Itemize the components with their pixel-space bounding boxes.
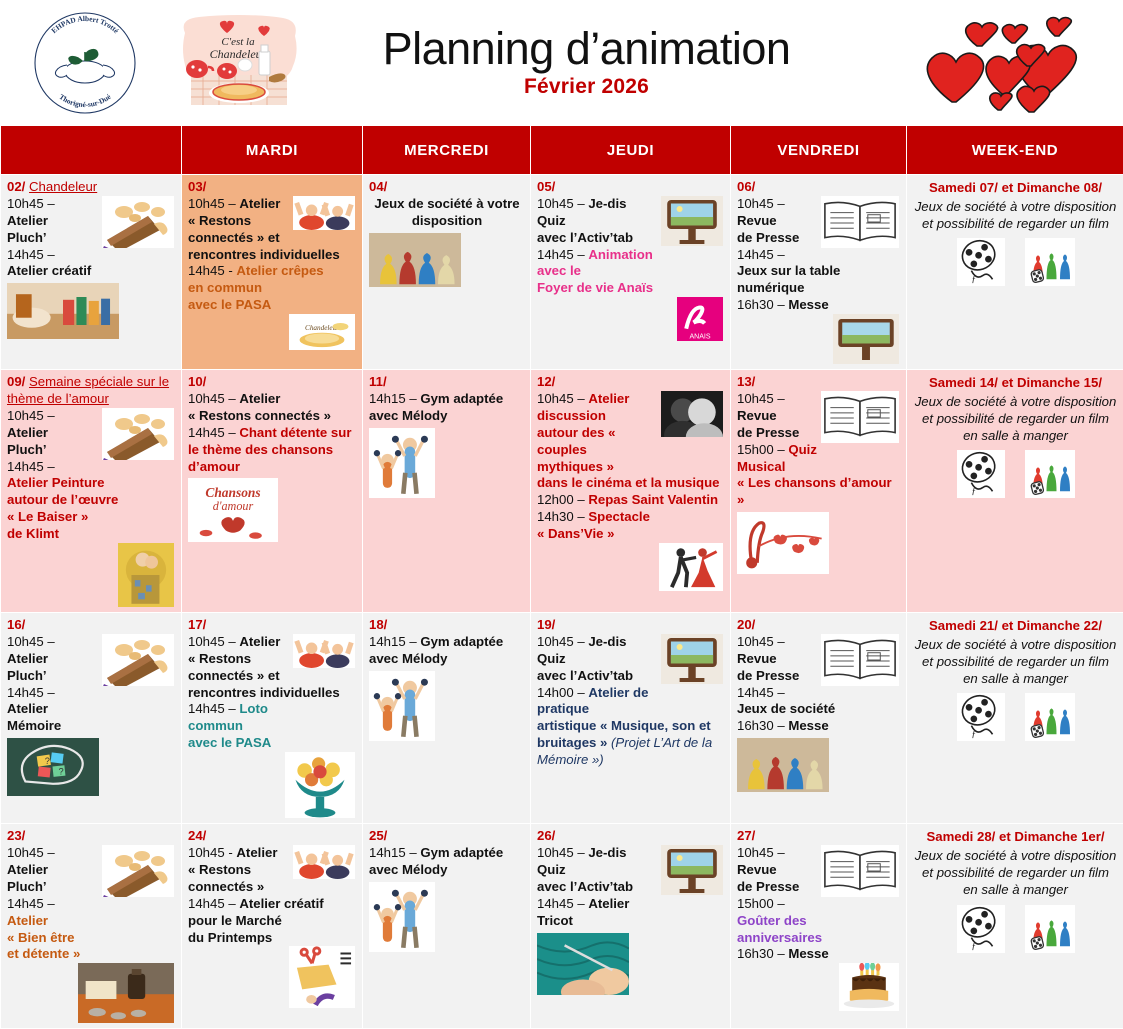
day-number: 05/: [537, 179, 555, 194]
day-number: 16/: [7, 617, 25, 632]
svg-text:Chansons: Chansons: [205, 486, 260, 501]
activity-time: 10h45 –: [188, 196, 239, 211]
column-header-weekend: WEEK-END: [907, 126, 1123, 175]
creative-workshop-image: [7, 283, 119, 339]
day-cell: 18/ 14h15 – Gym adaptéeavec Mélody: [363, 613, 531, 824]
day-header: 06/: [737, 179, 901, 196]
activity-time: 10h45 –: [537, 845, 588, 860]
day-header: 18/: [369, 617, 525, 634]
svg-text:Thorigné-sur-Dué: Thorigné-sur-Dué: [57, 91, 113, 108]
illustration-restons-connectes-icon: [293, 634, 355, 668]
chandeleur-badge-image: Chandeleur: [289, 314, 355, 350]
day-header: 27/: [737, 828, 901, 845]
activity-line: artistique « Musique, son et: [537, 718, 725, 735]
illustration-newspaper-icon: [821, 196, 899, 248]
activity-time: 14h45 –: [537, 247, 588, 262]
anais-logo-image: ANAIS: [677, 297, 723, 341]
activity-line: 14h45 – Atelier: [7, 896, 176, 930]
day-number: 03/: [188, 179, 206, 194]
weekend-cell: Samedi 14/ et Dimanche 15/ Jeux de socié…: [907, 370, 1123, 613]
activity-planning-table: MARDI MERCREDI JEUDI VENDREDI WEEK-END 0…: [0, 125, 1123, 1029]
activity-line: du Printemps: [188, 930, 357, 947]
illustration-board-game-pieces-icon: [1025, 450, 1075, 498]
day-cell: 27/ 10h45 – Revuede Presse15h00 – Goûter…: [731, 824, 907, 1029]
activity-line: Foyer de vie Anaïs: [537, 280, 725, 297]
day-cell: 24/ 10h45 - Atelier« Restons connectés »…: [182, 824, 363, 1029]
activity-line: d’amour: [188, 459, 357, 476]
activity-time: 10h45 –: [537, 634, 588, 649]
day-number: 24/: [188, 828, 206, 843]
illustration-adapted-gym-image: [369, 671, 525, 741]
day-theme-title: Chandeleur: [29, 179, 97, 194]
newspaper-icon: [821, 391, 899, 443]
activity-time: 14h45 –: [737, 685, 785, 700]
activity-time: 14h45 –: [188, 701, 239, 716]
pluch-workshop-image: [102, 408, 174, 460]
table-body: 02/ Chandeleur 10h45 – AtelierPluch’14h4…: [1, 175, 1123, 1029]
restons-connectes-icon: [293, 845, 355, 879]
illustration-anais-logo-image: ANAIS: [677, 297, 723, 341]
activity-line: 14h45 – Atelier créatif: [7, 247, 176, 281]
activity-line: bruitages » (Projet L’Art de la: [537, 735, 725, 752]
day-header: 17/: [188, 617, 357, 634]
activity-time: 14h30 –: [537, 509, 588, 524]
weekend-icons: ƒ: [913, 693, 1118, 741]
board-game-pawns-image: [369, 233, 461, 287]
activity-time: 16h30 –: [737, 718, 788, 733]
activity-line: 14h45 – Atelier Peinture: [7, 459, 176, 493]
table-header-row: MARDI MERCREDI JEUDI VENDREDI WEEK-END: [1, 126, 1123, 175]
day-number: 19/: [537, 617, 555, 632]
activity-line: 14h00 – Atelier de pratique: [537, 685, 725, 719]
activity-time: 14h15 –: [369, 391, 420, 406]
activity-time: 16h30 –: [737, 946, 788, 961]
day-cell: 23/ 10h45 – Atelier Pluch’14h45 – Atelie…: [1, 824, 182, 1029]
chandeleur-badge: C'est la Chandeleur: [170, 10, 305, 115]
day-header: 19/: [537, 617, 725, 634]
digital-table-image: [833, 314, 899, 364]
activity-line: 14h15 – Gym adaptée: [369, 845, 525, 862]
board-game-pieces-icon: [1025, 238, 1075, 286]
restons-connectes-icon: [293, 634, 355, 668]
illustration-digital-table-image: [833, 314, 899, 364]
day-header: 11/: [369, 374, 525, 391]
svg-text:EHPAD Albert Trotté: EHPAD Albert Trotté: [49, 13, 121, 35]
activity-line: 14h45 – Jeux de société: [737, 685, 901, 719]
activity-line: Mémoire: [7, 718, 176, 735]
weekend-description: Jeux de société à votre disposition et p…: [913, 198, 1118, 232]
page-subtitle: Février 2026: [305, 75, 868, 99]
activity-time: 10h45 –: [7, 634, 55, 649]
activity-time: 14h00 –: [537, 685, 588, 700]
newspaper-icon: [821, 845, 899, 897]
activity-line: pour le Marché: [188, 913, 357, 930]
activity-line: 15h00 – Goûter des: [737, 896, 901, 930]
activity-line: dans le cinéma et la musique: [537, 475, 725, 492]
day-header: 05/: [537, 179, 725, 196]
illustration-klimt-kiss-painting-image: [118, 543, 174, 607]
day-number: 20/: [737, 617, 755, 632]
activity-line: avec le PASA: [188, 735, 357, 752]
activity-line: rencontres individuelles: [188, 685, 357, 702]
activity-line: en commun: [188, 280, 357, 297]
day-header: 04/: [369, 179, 525, 196]
activity-line: avec le PASA: [188, 297, 357, 314]
activity-line: 15h00 – Quiz Musical: [737, 442, 901, 476]
activity-line: mythiques »: [537, 459, 725, 476]
title-block: Planning d’animation Février 2026: [305, 26, 908, 98]
wellness-candles-image: [78, 963, 174, 1023]
weekend-description: Jeux de société à votre disposition et p…: [913, 636, 1118, 687]
svg-text:?: ?: [45, 756, 50, 766]
weekend-icons: ƒ: [913, 238, 1118, 286]
activity-line: avec Mélody: [369, 651, 525, 668]
day-cell: 26/ 10h45 – Je-dis Quizavec l’Activ’tab1…: [531, 824, 731, 1029]
mythic-couple-photo-image: [661, 391, 723, 437]
day-header: 09/ Semaine spéciale sur le thème de l’a…: [7, 374, 176, 408]
day-number: 04/: [369, 179, 387, 194]
illustration-dancing-couple-image: [659, 543, 723, 591]
activity-line: le thème des chansons: [188, 442, 357, 459]
activity-time: 14h45 –: [7, 685, 55, 700]
activity-time: 14h45 –: [7, 459, 55, 474]
adapted-gym-image: [369, 671, 435, 741]
activity-time: 10h45 –: [7, 845, 55, 860]
activity-line: 14h45 – Animation avec le: [537, 247, 725, 281]
day-number: 12/: [537, 374, 555, 389]
pluch-workshop-image: [102, 634, 174, 686]
illustration-loto-balls-image: [285, 752, 355, 818]
day-number: 25/: [369, 828, 387, 843]
illustration-adapted-gym-image: [369, 428, 525, 498]
activity-time: 14h15 –: [369, 634, 420, 649]
day-theme-title: Semaine spéciale sur le thème de l’amour: [7, 374, 169, 406]
illustration-activtab-tablet-image: [661, 196, 723, 246]
day-number: 26/: [537, 828, 555, 843]
illustration-board-game-pieces-icon: [1025, 238, 1075, 286]
day-number: 27/: [737, 828, 755, 843]
weekend-icons: ƒ: [913, 905, 1118, 953]
weekend-dates: Samedi 21/ et Dimanche 22/: [913, 618, 1118, 635]
craft-scissors-image: [289, 946, 355, 1008]
activity-line: Mémoire »): [537, 752, 725, 769]
activity-line: de Klimt: [7, 526, 176, 543]
illustration-pluch-workshop-image: [102, 408, 174, 460]
illustration-music-hearts-image: [737, 512, 901, 574]
logo-bottom-text: Thorigné-sur-Dué: [57, 91, 113, 108]
activity-line: « Le Baiser »: [7, 509, 176, 526]
activity-line: et détente »: [7, 946, 176, 963]
day-cell: 05/ 10h45 – Je-dis Quizavec l’Activ’tab1…: [531, 175, 731, 370]
film-reel-icon: ƒ: [957, 905, 1005, 953]
activtab-tablet-image: [661, 845, 723, 895]
activity-line: 10h45 – Atelier: [188, 391, 357, 408]
illustration-activtab-tablet-image: [661, 634, 723, 684]
page-header: EHPAD Albert Trotté Thorigné-sur-Dué C'e…: [0, 0, 1123, 125]
day-cell: 10/ 10h45 – Atelier« Restons connectés »…: [182, 370, 363, 613]
activity-line: autour de l’œuvre: [7, 492, 176, 509]
activity-time: 10h45 –: [537, 196, 588, 211]
activity-time: 14h45 –: [737, 247, 785, 262]
day-cell: 17/ 10h45 – Atelier« Restons connectés »…: [182, 613, 363, 824]
week-row: 16/ 10h45 – AtelierPluch’14h45 – Atelier…: [1, 613, 1123, 824]
weekend-dates: Samedi 07/ et Dimanche 08/: [913, 180, 1118, 197]
illustration-pluch-workshop-image: [102, 634, 174, 686]
week-row: 09/ Semaine spéciale sur le thème de l’a…: [1, 370, 1123, 613]
activity-time: 14h45 –: [7, 247, 55, 262]
day-header: 24/: [188, 828, 357, 845]
day-cell: 06/ 10h45 – Revuede Presse14h45 – Jeux s…: [731, 175, 907, 370]
knitting-image: [537, 933, 629, 995]
column-header-lundi: [1, 126, 182, 175]
activity-line: 14h45 – Atelier Tricot: [537, 896, 725, 930]
day-cell: 11/ 14h15 – Gym adaptéeavec Mélody: [363, 370, 531, 613]
board-game-pawns-image: [737, 738, 829, 792]
activity-time: 15h00 –: [737, 896, 785, 911]
activity-line: 14h45 - Atelier crêpes: [188, 263, 357, 280]
activity-line: disposition: [369, 213, 525, 230]
newspaper-icon: [821, 196, 899, 248]
illustration-film-reel-icon: ƒ: [957, 238, 1005, 286]
day-number: 23/: [7, 828, 25, 843]
activity-line: 14h15 – Gym adaptée: [369, 634, 525, 651]
activity-time: 14h45 –: [7, 896, 55, 911]
column-header-vendredi: VENDREDI: [731, 126, 907, 175]
day-number: 02/: [7, 179, 25, 194]
activity-time: 10h45 –: [737, 196, 785, 211]
activity-line: 14h45 – Chant détente sur: [188, 425, 357, 442]
adapted-gym-image: [369, 428, 435, 498]
board-game-pieces-icon: [1025, 693, 1075, 741]
activtab-tablet-image: [661, 634, 723, 684]
activity-time: 10h45 -: [188, 845, 236, 860]
svg-text:ƒ: ƒ: [971, 487, 976, 498]
illustration-knitting-image: [537, 933, 725, 995]
activity-line: numérique: [737, 280, 901, 297]
activity-time: 10h45 –: [188, 391, 239, 406]
chandeleur-line2: Chandeleur: [209, 47, 266, 61]
svg-text:ƒ: ƒ: [971, 274, 976, 285]
weekend-description: Jeux de société à votre disposition et p…: [913, 393, 1118, 444]
activity-line: « Restons connectés »: [188, 408, 357, 425]
klimt-kiss-painting-image: [118, 543, 174, 607]
hand-holding-apple-icon: EHPAD Albert Trotté Thorigné-sur-Dué: [29, 7, 141, 119]
illustration-newspaper-icon: [821, 634, 899, 686]
day-number: 09/: [7, 374, 25, 389]
activity-line: 14h45 – Jeux sur la table: [737, 247, 901, 281]
day-cell: 02/ Chandeleur 10h45 – AtelierPluch’14h4…: [1, 175, 182, 370]
film-reel-icon: ƒ: [957, 450, 1005, 498]
pluch-workshop-image: [102, 845, 174, 897]
music-hearts-image: [737, 512, 829, 574]
activity-time: 10h45 –: [737, 634, 785, 649]
restons-connectes-icon: [293, 196, 355, 230]
day-cell: 16/ 10h45 – AtelierPluch’14h45 – Atelier…: [1, 613, 182, 824]
activity-time: 10h45 –: [737, 845, 785, 860]
board-game-pieces-icon: [1025, 905, 1075, 953]
activity-time: 10h45 –: [7, 408, 55, 423]
illustration-pluch-workshop-image: [102, 196, 174, 248]
day-number: 18/: [369, 617, 387, 632]
column-header-jeudi: JEUDI: [531, 126, 731, 175]
activity-line: rencontres individuelles: [188, 247, 357, 264]
illustration-film-reel-icon: ƒ: [957, 693, 1005, 741]
week-row: 23/ 10h45 – Atelier Pluch’14h45 – Atelie…: [1, 824, 1123, 1029]
day-header: 16/: [7, 617, 176, 634]
activity-time: 14h45 –: [188, 896, 239, 911]
day-cell: 12/ 10h45 – Atelier discussionautour des…: [531, 370, 731, 613]
day-header: 13/: [737, 374, 901, 391]
illustration-memory-brain-image: ? ?: [7, 738, 176, 796]
day-number: 17/: [188, 617, 206, 632]
pluch-workshop-image: [102, 196, 174, 248]
day-number: 06/: [737, 179, 755, 194]
illustration-craft-scissors-image: [289, 946, 355, 1008]
day-cell: 19/ 10h45 – Je-dis Quizavec l’Activ’tab1…: [531, 613, 731, 824]
activity-line: 16h30 – Messe: [737, 946, 901, 963]
activity-time: 14h45 –: [188, 425, 239, 440]
day-header: 02/ Chandeleur: [7, 179, 176, 196]
weekend-dates: Samedi 28/ et Dimanche 1er/: [913, 829, 1118, 846]
day-header: 25/: [369, 828, 525, 845]
day-number: 11/: [369, 374, 387, 389]
activity-time: 10h45 –: [737, 391, 785, 406]
week-row: 02/ Chandeleur 10h45 – AtelierPluch’14h4…: [1, 175, 1123, 370]
activity-line: Jeux de société à votre: [369, 196, 525, 213]
activity-line: « Dans’Vie »: [537, 526, 725, 543]
film-reel-icon: ƒ: [957, 693, 1005, 741]
hearts-decoration: [908, 5, 1123, 120]
page-title: Planning d’animation: [305, 26, 868, 72]
newspaper-icon: [821, 634, 899, 686]
illustration-film-reel-icon: ƒ: [957, 450, 1005, 498]
activity-line: anniversaires: [737, 930, 901, 947]
activity-line: 14h15 – Gym adaptée: [369, 391, 525, 408]
activity-line: 12h00 – Repas Saint Valentin: [537, 492, 725, 509]
birthday-cake-image: [839, 963, 899, 1011]
weekend-cell: Samedi 28/ et Dimanche 1er/ Jeux de soci…: [907, 824, 1123, 1029]
activity-line: avec Mélody: [369, 862, 525, 879]
illustration-restons-connectes-icon: [293, 196, 355, 230]
illustration-board-game-pawns-image: [737, 738, 901, 792]
hearts-cluster-icon: [916, 10, 1116, 115]
activity-line: 14h30 – Spectacle: [537, 509, 725, 526]
svg-text:ƒ: ƒ: [971, 730, 976, 741]
illustration-pluch-workshop-image: [102, 845, 174, 897]
day-header: 23/: [7, 828, 176, 845]
day-number: 10/: [188, 374, 206, 389]
illustration-activtab-tablet-image: [661, 845, 723, 895]
memory-brain-image: ? ?: [7, 738, 99, 796]
activity-time: 14h45 -: [188, 263, 236, 278]
activity-time: 16h30 –: [737, 297, 788, 312]
weekend-cell: Samedi 07/ et Dimanche 08/ Jeux de socié…: [907, 175, 1123, 370]
weekend-dates: Samedi 14/ et Dimanche 15/: [913, 375, 1118, 392]
day-header: 20/: [737, 617, 901, 634]
svg-text:ANAIS: ANAIS: [689, 334, 710, 341]
activity-time: 10h45 –: [7, 196, 55, 211]
activity-time: 10h45 –: [537, 391, 588, 406]
svg-text:ƒ: ƒ: [971, 941, 976, 952]
film-reel-icon: ƒ: [957, 238, 1005, 286]
illustration-film-reel-icon: ƒ: [957, 905, 1005, 953]
illustration-chansons-damour-image: Chansons d'amour: [188, 478, 357, 542]
logo-top-text: EHPAD Albert Trotté: [49, 13, 121, 35]
day-header: 03/: [188, 179, 357, 196]
column-header-mardi: MARDI: [182, 126, 363, 175]
illustration-wellness-candles-image: [78, 963, 174, 1023]
activity-line: 16h30 – Messe: [737, 297, 901, 314]
day-header: 12/: [537, 374, 725, 391]
weekend-icons: ƒ: [913, 450, 1118, 498]
illustration-newspaper-icon: [821, 391, 899, 443]
day-cell: 25/ 14h15 – Gym adaptéeavec Mélody: [363, 824, 531, 1029]
activtab-tablet-image: [661, 196, 723, 246]
day-cell: 20/ 10h45 – Revuede Presse14h45 – Jeux d…: [731, 613, 907, 824]
activity-line: « Bien être: [7, 930, 176, 947]
illustration-board-game-pieces-icon: [1025, 693, 1075, 741]
crepes-illustration: C'est la Chandeleur: [173, 13, 303, 113]
illustration-creative-workshop-image: [7, 283, 176, 339]
illustration-mythic-couple-photo-image: [661, 391, 723, 437]
day-cell: 04/ Jeux de société à votredisposition: [363, 175, 531, 370]
activity-time: 14h15 –: [369, 845, 420, 860]
activity-line: avec Mélody: [369, 408, 525, 425]
activity-line: 16h30 – Messe: [737, 718, 901, 735]
activity-time: 15h00 –: [737, 442, 788, 457]
illustration-board-game-pieces-icon: [1025, 905, 1075, 953]
svg-text:d'amour: d'amour: [213, 499, 254, 513]
illustration-restons-connectes-icon: [293, 845, 355, 879]
activity-line: « Les chansons d’amour »: [737, 475, 901, 509]
ehpad-logo: EHPAD Albert Trotté Thorigné-sur-Dué: [0, 4, 170, 122]
illustration-birthday-cake-image: [839, 963, 899, 1011]
weekend-description: Jeux de société à votre disposition et p…: [913, 847, 1118, 898]
day-cell: 09/ Semaine spéciale sur le thème de l’a…: [1, 370, 182, 613]
loto-balls-image: [285, 752, 355, 818]
svg-text:?: ?: [59, 767, 64, 777]
board-game-pieces-icon: [1025, 450, 1075, 498]
activity-line: commun: [188, 718, 357, 735]
activity-line: 14h45 – Loto: [188, 701, 357, 718]
activity-time: 12h00 –: [537, 492, 588, 507]
activity-time: 14h45 –: [537, 896, 588, 911]
weekend-cell: Samedi 21/ et Dimanche 22/ Jeux de socié…: [907, 613, 1123, 824]
day-cell: 03/ 10h45 – Atelier« Restons connectés »…: [182, 175, 363, 370]
illustration-newspaper-icon: [821, 845, 899, 897]
day-cell: 13/ 10h45 – Revuede Presse15h00 – Quiz M…: [731, 370, 907, 613]
day-header: 10/: [188, 374, 357, 391]
illustration-chandeleur-badge-image: Chandeleur: [289, 314, 355, 350]
adapted-gym-image: [369, 882, 435, 952]
chansons-damour-image: Chansons d'amour: [188, 478, 278, 542]
illustration-board-game-pawns-image: [369, 233, 525, 287]
day-number: 13/: [737, 374, 755, 389]
day-header: 26/: [537, 828, 725, 845]
dancing-couple-image: [659, 543, 723, 591]
activity-line: 14h45 – Atelier: [7, 685, 176, 719]
column-header-mercredi: MERCREDI: [363, 126, 531, 175]
activity-line: 14h45 – Atelier créatif: [188, 896, 357, 913]
activity-time: 10h45 –: [188, 634, 239, 649]
illustration-adapted-gym-image: [369, 882, 525, 952]
